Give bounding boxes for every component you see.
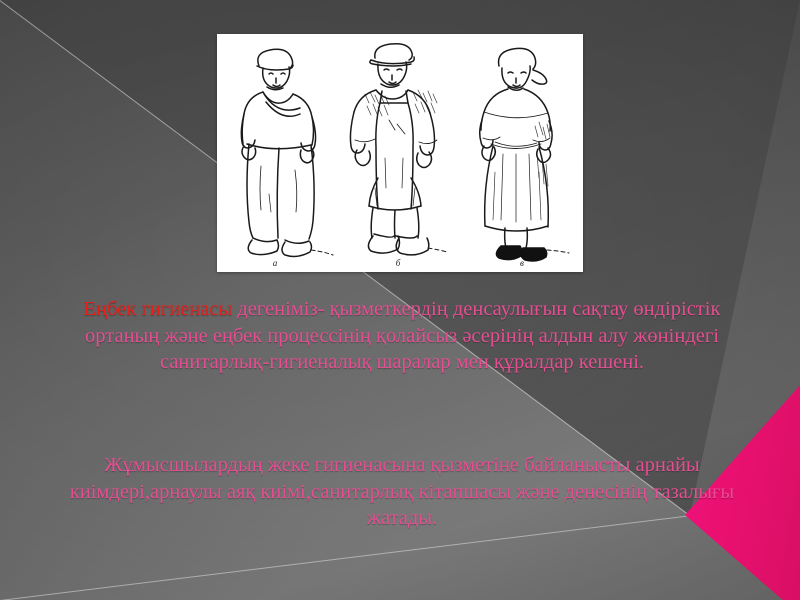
paragraph-personal-hygiene: Жұмысшылардың жеке гигиенасына қызметіне… (52, 452, 752, 532)
highlight-term: Еңбек гигиенасы (84, 298, 233, 320)
paragraph-definition: Еңбек гигиенасы дегеніміз- қызметкердің … (52, 296, 752, 376)
presentation-slide: а б в Еңбек гигиенасы дегеніміз- қызметк… (0, 0, 800, 600)
figure-label-a: а (273, 258, 278, 268)
figure-label-b: б (396, 258, 401, 268)
figure-label-c: в (520, 258, 524, 268)
illustration-image: а б в (217, 34, 583, 272)
